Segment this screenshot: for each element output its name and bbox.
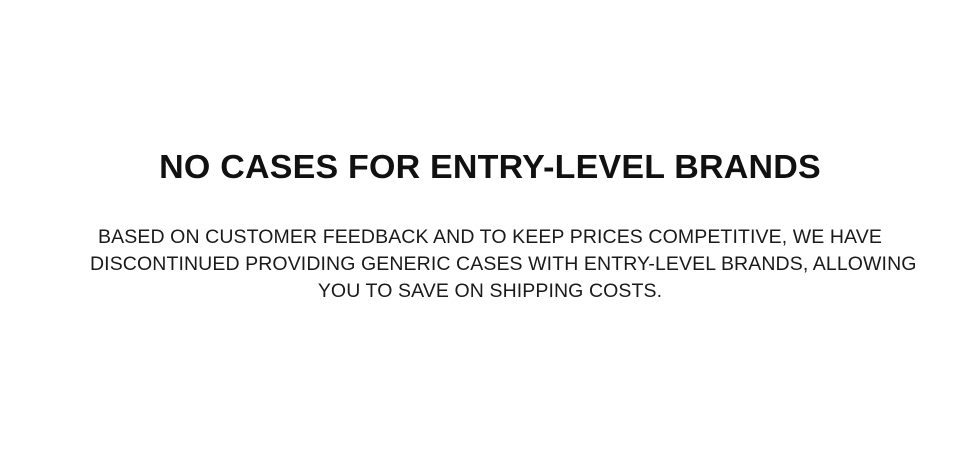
promo-body-text: BASED ON CUSTOMER FEEDBACK AND TO KEEP P…: [90, 186, 890, 305]
promo-body-line: DISCONTINUED PROVIDING GENERIC CASES WIT…: [90, 251, 890, 278]
promo-content: NO CASES FOR ENTRY-LEVEL BRANDS BASED ON…: [0, 0, 980, 305]
promo-body-line: BASED ON CUSTOMER FEEDBACK AND TO KEEP P…: [90, 224, 890, 251]
promo-body-line: YOU TO SAVE ON SHIPPING COSTS.: [90, 278, 890, 305]
page-title: NO CASES FOR ENTRY-LEVEL BRANDS: [0, 148, 980, 186]
promo-banner: NO CASES FOR ENTRY-LEVEL BRANDS BASED ON…: [0, 0, 980, 450]
